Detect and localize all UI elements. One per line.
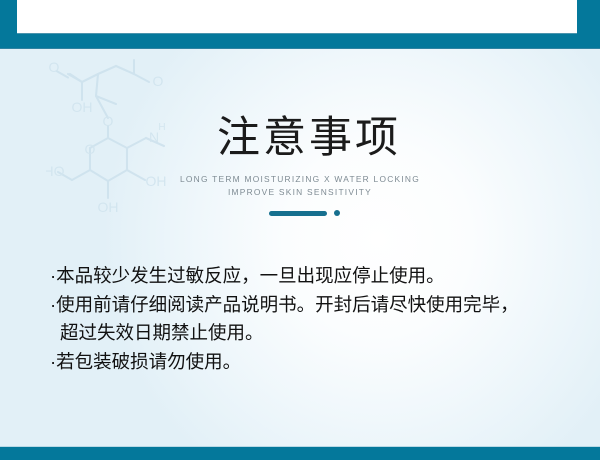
notice-list: ·本品较少发生过敏反应，一旦出现应停止使用。 ·使用前请仔细阅读产品说明书。开封… <box>50 262 570 376</box>
top-frame-hairline <box>0 48 600 49</box>
notice-line: ·本品较少发生过敏反应，一旦出现应停止使用。 <box>50 262 570 291</box>
notice-line: ·使用前请仔细阅读产品说明书。开封后请尽快使用完毕， <box>50 291 570 320</box>
notice-line: ·若包装破损请勿使用。 <box>50 348 570 377</box>
title-divider <box>0 209 600 217</box>
molecule-atom-o3: O <box>153 73 164 89</box>
header-block: 注意事项 LONG TERM MOISTURIZING X WATER LOCK… <box>0 112 600 217</box>
divider-bar <box>269 211 327 216</box>
top-frame-inner-panel <box>17 0 577 34</box>
divider-dot <box>334 210 340 216</box>
subtitle-line-2: IMPROVE SKIN SENSITIVITY <box>0 186 600 199</box>
top-accent-frame <box>0 0 600 49</box>
notice-page: O OH O O O N H HO OH OH 注意事项 LONG TERM M… <box>0 0 600 460</box>
subtitle-line-1: LONG TERM MOISTURIZING X WATER LOCKING <box>0 173 600 186</box>
page-title: 注意事项 <box>0 112 600 164</box>
molecule-atom-o1: O <box>49 59 60 75</box>
notice-line: 超过失效日期禁止使用。 <box>50 319 570 348</box>
bottom-accent-bar <box>0 447 600 460</box>
